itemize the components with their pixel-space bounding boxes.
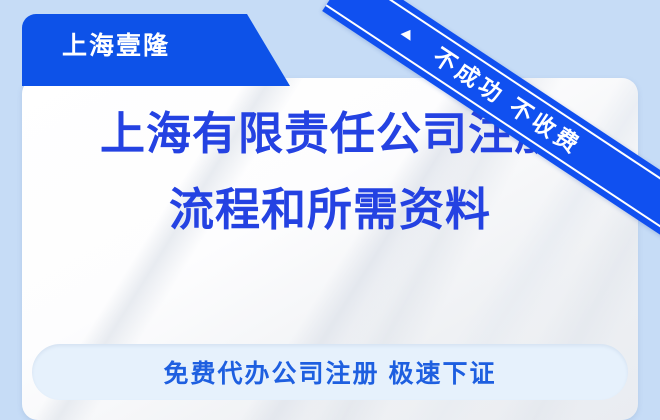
triangle-up-icon xyxy=(400,27,415,41)
footer-cta-pill[interactable]: 免费代办公司注册 极速下证 xyxy=(32,344,628,400)
brand-tab[interactable]: 上海壹隆 xyxy=(22,14,290,86)
brand-tab-label: 上海壹隆 xyxy=(62,30,170,62)
footer-cta-label: 免费代办公司注册 极速下证 xyxy=(164,354,497,390)
headline-line-2: 流程和所需资料 xyxy=(0,172,660,248)
promo-poster: 上海壹隆 上海有限责任公司注册 流程和所需资料 免费代办公司注册 极速下证 不成… xyxy=(0,0,660,420)
